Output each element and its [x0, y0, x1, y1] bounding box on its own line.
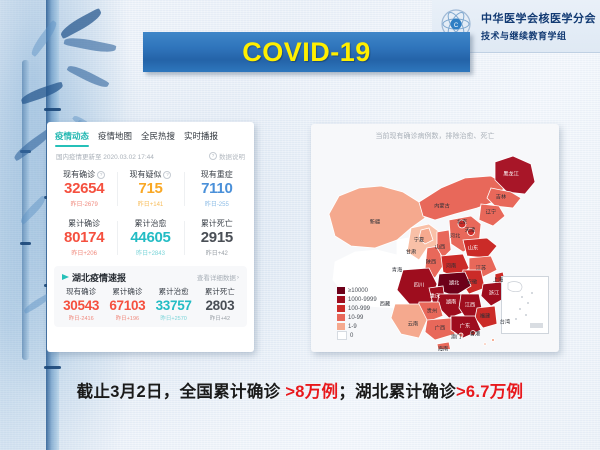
legend-swatch — [337, 323, 345, 330]
province-label: 广西 — [435, 325, 445, 332]
province-label: 海南 — [438, 346, 448, 353]
china-map-panel: 当前现有确诊病例数，排除治愈、死亡 — [311, 124, 559, 352]
footer-part-2: ；湖北累计确诊 — [338, 383, 456, 401]
stat-delta: 昨日-2416 — [58, 314, 104, 322]
help-icon: ? — [209, 152, 217, 160]
stat-label: 累计确诊 — [104, 286, 150, 297]
province-label: 甘肃 — [406, 249, 416, 256]
stat-value: 44605 — [117, 229, 183, 248]
stat-delta: 昨日+141 — [117, 199, 183, 208]
legend-row: 10-99 — [337, 313, 377, 322]
province-label: 江苏 — [476, 265, 486, 272]
tab-live-report[interactable]: 实时播报 — [184, 130, 218, 147]
province-label: 辽宁 — [486, 209, 496, 216]
province-label: 青海 — [392, 267, 402, 274]
logo-line-1: 中华医学会核医学分会 — [481, 10, 596, 26]
data-note-label: 数据说明 — [219, 151, 245, 161]
stat-delta: 昨日+42 — [184, 248, 250, 257]
stat-total-deaths: 累计死亡 2915 昨日+42 — [184, 215, 250, 261]
stat-value: 2915 — [184, 229, 250, 248]
hubei-stat-current-confirmed: 现有确诊 30543 昨日-2416 — [58, 286, 104, 323]
page-title: COVID-19 — [242, 37, 371, 68]
stat-total-cured: 累计治愈 44605 昨日+2843 — [117, 215, 183, 261]
bamboo-node — [20, 242, 31, 245]
province-label: 广东 — [460, 323, 470, 330]
province-label: 四川 — [414, 282, 424, 289]
footer-part-1: 截止3月2日，全国累计确诊 — [77, 383, 286, 401]
hubei-stat-total-deaths: 累计死亡 2803 昨日+42 — [197, 286, 243, 323]
legend-label: ≥10000 — [348, 288, 368, 294]
province-label: 吉林 — [496, 194, 506, 201]
province-label: 香港 — [470, 331, 480, 338]
province-label: 澳门 — [451, 334, 461, 341]
hubei-stats: 现有确诊 30543 昨日-2416 累计确诊 67103 昨日+196 累计治… — [58, 286, 243, 323]
stat-delta: 昨日-2679 — [51, 199, 117, 208]
paper-plane-icon — [62, 274, 69, 280]
province-label: 福建 — [480, 313, 490, 320]
province-label: 湖北 — [449, 280, 459, 287]
panel-tabs: 疫情动态 疫情地图 全民热搜 实时播报 — [47, 122, 254, 147]
province-label: 江西 — [465, 302, 475, 309]
legend-row: ≥10000 — [337, 286, 377, 295]
province-label: 宁夏 — [414, 237, 424, 244]
legend-label: 1000-9999 — [348, 297, 377, 303]
tab-epidemic-map[interactable]: 疫情地图 — [98, 130, 132, 147]
stat-delta: 昨日+196 — [104, 314, 150, 322]
province-label: 内蒙古 — [434, 203, 450, 210]
footer-caption: 截止3月2日，全国累计确诊 >8万例；湖北累计确诊>6.7万例 — [0, 378, 600, 402]
footer-highlight-2: >6.7万例 — [456, 383, 523, 401]
stat-delta: 昨日+2843 — [117, 248, 183, 257]
stat-label: 累计死亡 — [197, 286, 243, 297]
province-label: 贵州 — [427, 308, 437, 315]
hubei-title: 湖北疫情速报 — [72, 271, 126, 284]
province-label: 浙江 — [489, 290, 499, 297]
legend-label: 1-9 — [348, 324, 357, 330]
legend-swatch — [337, 287, 345, 294]
province-label: 河北 — [450, 233, 460, 240]
stat-label: 现有确诊 — [63, 169, 95, 180]
legend-label: 10-99 — [348, 315, 363, 321]
legend-swatch — [337, 305, 345, 312]
stat-total-confirmed: 累计确诊 80174 昨日+206 — [51, 215, 117, 261]
stat-label: 累计确诊 — [68, 218, 100, 229]
map-caption: 当前现有确诊病例数，排除治愈、死亡 — [311, 124, 559, 141]
stat-value: 715 — [117, 180, 183, 199]
legend-row: 100-999 — [337, 304, 377, 313]
panel-meta: 国内疫情更新至 2020.03.02 17:44 ? 数据说明 — [47, 147, 254, 163]
stat-value: 33757 — [151, 297, 197, 315]
stat-delta: 昨日-255 — [184, 199, 250, 208]
province-label: 山东 — [468, 245, 478, 252]
hubei-details-link[interactable]: 查看详细数据 › — [197, 272, 239, 282]
footer-highlight-1: >8万例 — [285, 383, 338, 401]
stat-label: 累计治愈 — [134, 218, 166, 229]
hubei-header: 湖北疫情速报 查看详细数据 › — [58, 271, 243, 286]
stat-label: 现有重症 — [201, 169, 233, 180]
stat-current-confirmed: 现有确诊? 32654 昨日-2679 — [51, 166, 117, 212]
hubei-stat-total-confirmed: 累计确诊 67103 昨日+196 — [104, 286, 150, 323]
province-label: 北京 — [457, 219, 467, 226]
stat-label: 现有疑似 — [129, 169, 161, 180]
stat-label: 现有确诊 — [58, 286, 104, 297]
stat-value: 7110 — [184, 180, 250, 199]
stat-label: 累计死亡 — [201, 218, 233, 229]
tab-epidemic-trends[interactable]: 疫情动态 — [55, 130, 89, 147]
stat-delta: 昨日+2570 — [151, 314, 197, 322]
province-label: 河南 — [446, 263, 456, 270]
hubei-more-label: 查看详细数据 — [197, 272, 236, 282]
bamboo-node — [44, 108, 61, 111]
stat-label: 累计治愈 — [151, 286, 197, 297]
stat-delta: 昨日+206 — [51, 248, 117, 257]
province-label: 西藏 — [380, 301, 390, 308]
data-note-link[interactable]: ? 数据说明 — [209, 151, 245, 161]
epidemic-data-panel: 疫情动态 疫情地图 全民热搜 实时播报 国内疫情更新至 2020.03.02 1… — [47, 122, 254, 352]
province-label: 新疆 — [370, 219, 380, 226]
stats-row-current: 现有确诊? 32654 昨日-2679 现有疑似? 715 昨日+141 现有重… — [47, 163, 254, 212]
province-label: 山西 — [435, 244, 445, 251]
stat-current-severe: 现有重症 7110 昨日-255 — [184, 166, 250, 212]
stats-row-cumulative: 累计确诊 80174 昨日+206 累计治愈 44605 昨日+2843 累计死… — [47, 212, 254, 261]
stat-value: 30543 — [58, 297, 104, 315]
stat-value: 80174 — [51, 229, 117, 248]
map-canvas[interactable]: ≥100001000-9999100-99910-991-90 新疆青海西藏内蒙… — [315, 144, 555, 348]
province-label: 安徽 — [467, 279, 477, 286]
legend-row: 1000-9999 — [337, 295, 377, 304]
province-label: 黑龙江 — [503, 171, 519, 178]
help-icon: ? — [97, 171, 105, 179]
slide-title-banner: COVID-19 — [143, 32, 470, 72]
legend-label: 0 — [350, 333, 353, 339]
legend-swatch — [337, 331, 347, 340]
hubei-section: 湖北疫情速报 查看详细数据 › 现有确诊 30543 昨日-2416 累计确诊 … — [54, 266, 247, 328]
logo-line-2: 技术与继续教育学组 — [481, 29, 596, 42]
svg-text:C: C — [454, 23, 459, 29]
province-label: 重庆 — [430, 293, 440, 300]
province-label: 云南 — [408, 321, 418, 328]
province-label: 陕西 — [426, 259, 436, 266]
stat-value: 32654 — [51, 180, 117, 199]
province-label: 台湾 — [500, 319, 510, 326]
province-label: 天津 — [465, 227, 475, 234]
legend-swatch — [337, 314, 345, 321]
help-icon: ? — [163, 171, 171, 179]
legend-swatch — [337, 296, 345, 303]
province-label: 上海 — [493, 277, 503, 284]
bamboo-node — [44, 366, 61, 369]
map-legend: ≥100001000-9999100-99910-991-90 — [337, 286, 377, 340]
tab-hot-search[interactable]: 全民热搜 — [141, 130, 175, 147]
chevron-right-icon: › — [237, 274, 239, 281]
legend-row: 1-9 — [337, 322, 377, 331]
stat-value: 67103 — [104, 297, 150, 315]
update-time: 国内疫情更新至 2020.03.02 17:44 — [56, 151, 154, 161]
legend-label: 100-999 — [348, 306, 370, 312]
province-label: 湖南 — [446, 299, 456, 306]
stat-delta: 昨日+42 — [197, 314, 243, 322]
hubei-title-group: 湖北疫情速报 — [62, 271, 126, 284]
stat-current-suspected: 现有疑似? 715 昨日+141 — [117, 166, 183, 212]
stat-value: 2803 — [197, 297, 243, 315]
hubei-stat-total-cured: 累计治愈 33757 昨日+2570 — [151, 286, 197, 323]
legend-row: 0 — [337, 331, 377, 340]
